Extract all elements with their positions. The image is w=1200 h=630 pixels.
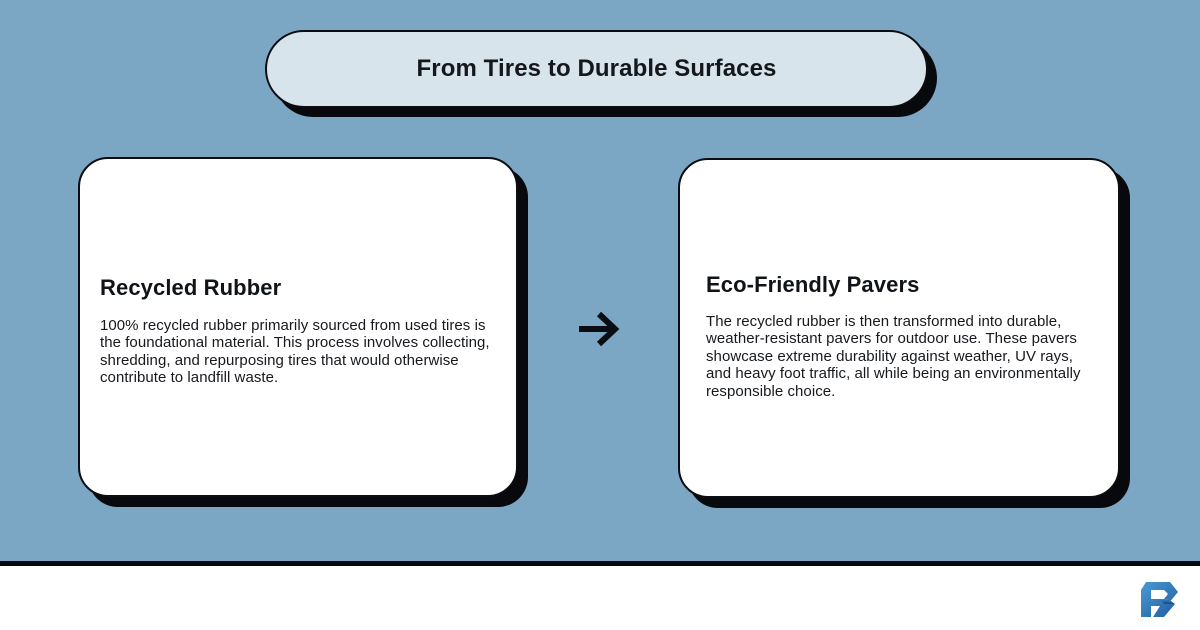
brand-r-logo-icon <box>1134 574 1182 622</box>
step-card-content: Recycled Rubber 100% recycled rubber pri… <box>100 275 494 386</box>
poster-canvas: From Tires to Durable Surfaces Recycled … <box>0 0 1200 561</box>
arrow-right-icon <box>577 308 623 350</box>
step-card-heading: Eco-Friendly Pavers <box>706 272 1100 297</box>
step-card-body: 100% recycled rubber primarily sourced f… <box>100 317 494 387</box>
page-title: From Tires to Durable Surfaces <box>393 55 801 84</box>
infographic-poster: From Tires to Durable Surfaces Recycled … <box>0 0 1200 630</box>
poster-title-pill: From Tires to Durable Surfaces <box>265 30 928 108</box>
step-card-recycled-rubber: Recycled Rubber 100% recycled rubber pri… <box>78 157 518 497</box>
poster-footer <box>0 566 1200 630</box>
flow-arrow <box>560 296 640 362</box>
step-card-heading: Recycled Rubber <box>100 275 494 300</box>
step-card-eco-friendly-pavers: Eco-Friendly Pavers The recycled rubber … <box>678 158 1120 498</box>
brand-logo <box>1134 574 1182 622</box>
step-card-body: The recycled rubber is then transformed … <box>706 313 1100 401</box>
step-card-content: Eco-Friendly Pavers The recycled rubber … <box>706 272 1100 401</box>
